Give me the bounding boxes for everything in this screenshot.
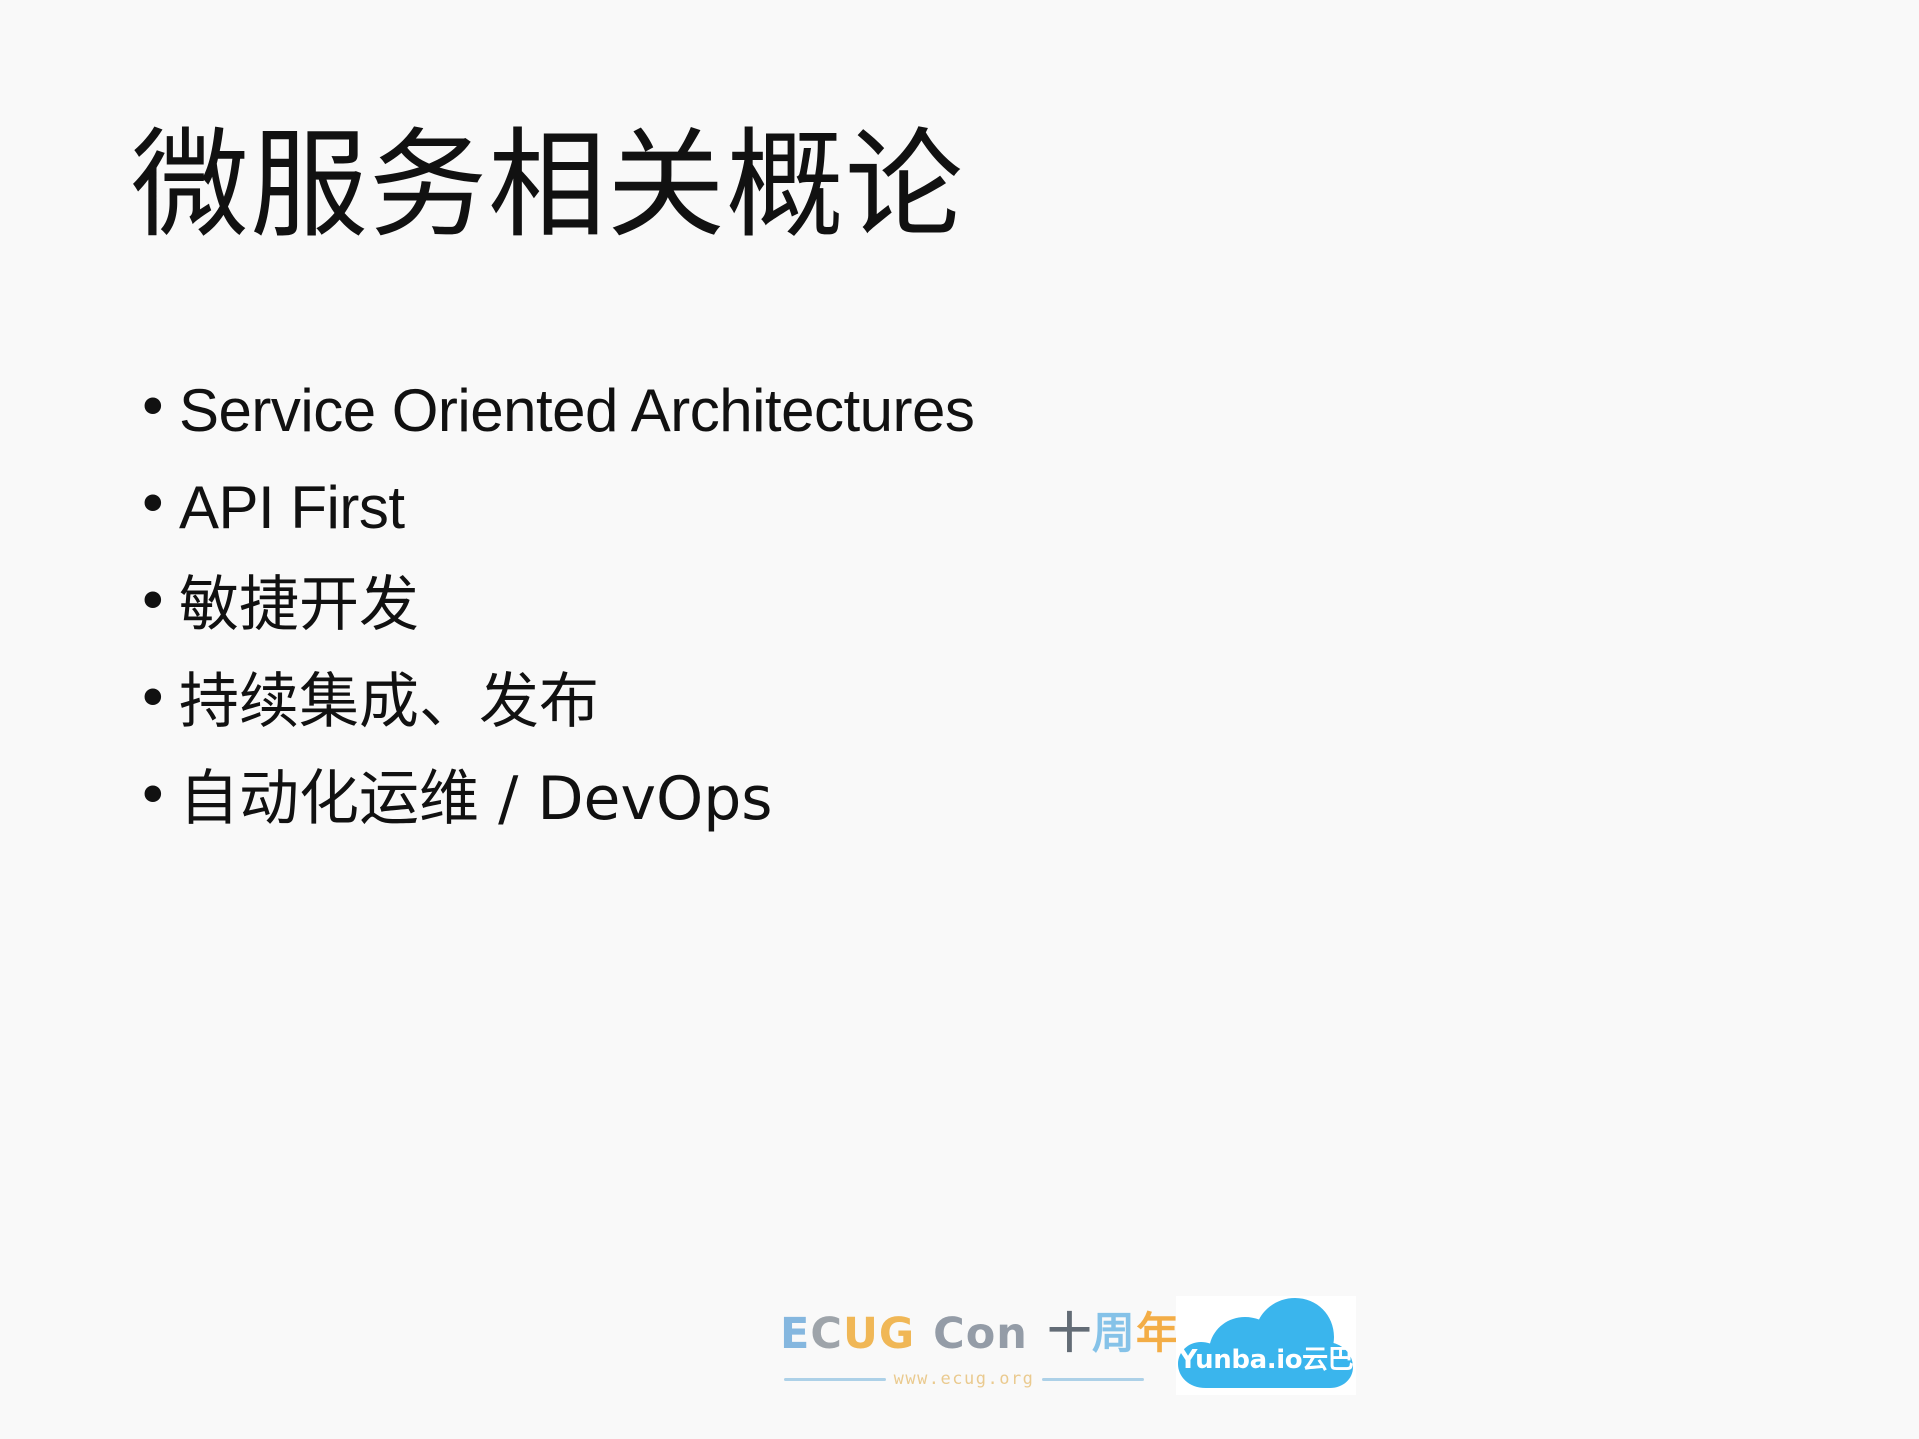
list-item-label: 敏捷开发 bbox=[179, 575, 419, 635]
ecug-website-url: www.ecug.org bbox=[894, 1369, 1035, 1389]
divider-right bbox=[1042, 1378, 1144, 1381]
slide-canvas: 微服务相关概论 • Service Oriented Architectures… bbox=[0, 0, 1919, 1439]
footer-logo-row: ECUGCon十周年盛会 www.ecug.org Yunba.io云巴 bbox=[780, 1285, 1420, 1420]
ecug-char-shi: 十 bbox=[1048, 1313, 1092, 1356]
ecug-letter-c: C bbox=[810, 1313, 843, 1356]
list-item: • 自动化运维 / DevOps bbox=[136, 769, 1636, 866]
list-item: • API First bbox=[136, 478, 1636, 575]
list-item: • Service Oriented Architectures bbox=[136, 381, 1636, 478]
divider-left bbox=[784, 1378, 886, 1381]
list-item-label: API First bbox=[179, 478, 405, 538]
page-title: 微服务相关概论 bbox=[131, 114, 964, 258]
list-item-label: Service Oriented Architectures bbox=[179, 381, 974, 441]
ecug-char-zhou: 周 bbox=[1092, 1313, 1136, 1356]
yunba-wordmark: Yunba.io云巴 bbox=[1176, 1347, 1356, 1373]
list-item-label: 持续集成、发布 bbox=[179, 672, 599, 732]
ecug-char-nian: 年 bbox=[1136, 1313, 1180, 1356]
ecug-url-row: www.ecug.org bbox=[784, 1369, 1144, 1389]
list-item: • 敏捷开发 bbox=[136, 575, 1636, 672]
ecug-word-con: Con bbox=[933, 1313, 1028, 1356]
yunba-cloud-logo: Yunba.io云巴 bbox=[1176, 1296, 1356, 1395]
ecug-letters-ug: UG bbox=[843, 1313, 915, 1356]
ecug-con-logo: ECUGCon十周年盛会 www.ecug.org bbox=[780, 1313, 1152, 1393]
list-item-label: 自动化运维 / DevOps bbox=[179, 769, 773, 829]
bullet-list: • Service Oriented Architectures • API F… bbox=[136, 381, 1636, 866]
list-item: • 持续集成、发布 bbox=[136, 672, 1636, 769]
ecug-letter-e: E bbox=[780, 1313, 810, 1356]
